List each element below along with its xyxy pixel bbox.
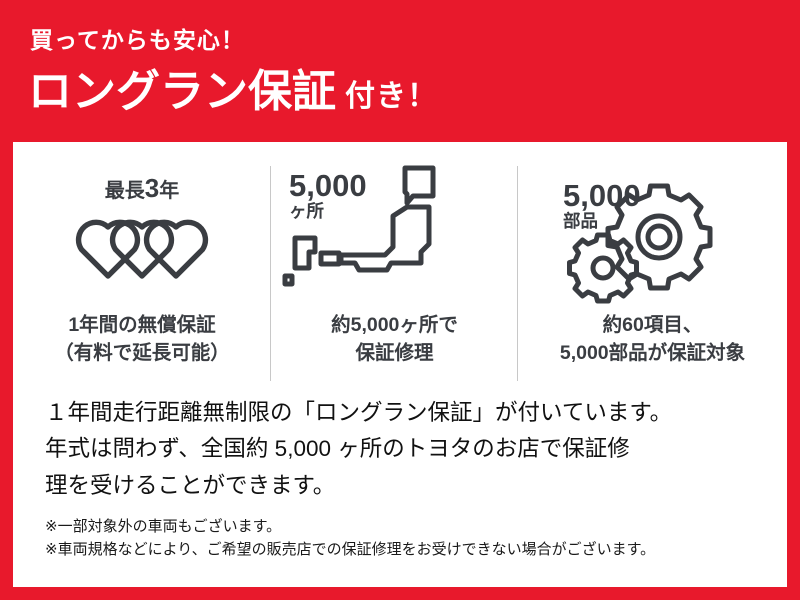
warranty-period-number: 3 bbox=[145, 173, 159, 203]
service-locations-unit: ヶ所 bbox=[289, 203, 324, 221]
header-headline: ロングラン保証 付き！ bbox=[28, 70, 438, 114]
header-tagline: 買ってからも安心！ bbox=[30, 29, 245, 52]
warranty-period-caption-line2: （有料で延長可能） bbox=[54, 342, 230, 364]
warranty-period-caption-line1: 1年間の無償保証 bbox=[68, 314, 215, 336]
service-locations-caption-line2: 保証修理 bbox=[355, 342, 433, 364]
feature-columns: 最長3年 1年間の無償保証 （有料で延長可能 bbox=[13, 156, 787, 388]
warranty-banner: 買ってからも安心！ ロングラン保証 付き！ 最長3年 bbox=[0, 0, 800, 600]
warranty-period-prefix: 最長 bbox=[105, 180, 145, 202]
content-panel: 最長3年 1年間の無償保証 （有料で延長可能 bbox=[13, 142, 787, 587]
covered-parts-unit: 部品 bbox=[563, 213, 598, 231]
covered-parts-icon-area: 5,000 部品 bbox=[518, 156, 787, 311]
feature-covered-parts: 5,000 部品 約60項目、 5,000部品が保証対象 bbox=[518, 156, 787, 388]
body-line-2: 年式は問わず、全国約 5,000 ヶ所のトヨタのお店で保証修 bbox=[45, 431, 775, 467]
disclaimer-notes: ※一部対象外の車両もございます。 ※車両規格などにより、ご希望の販売店での保証修… bbox=[45, 516, 775, 561]
body-line-3: 理を受けることができます。 bbox=[45, 468, 775, 504]
headline-main-text: ロングラン保証 bbox=[28, 70, 336, 114]
warranty-period-icon-area: 最長3年 bbox=[13, 156, 271, 311]
service-locations-icon-area: 5,000 ヶ所 bbox=[271, 156, 518, 311]
note-line-2: ※車両規格などにより、ご希望の販売店での保証修理をお受けできない場合がございます… bbox=[45, 539, 775, 562]
headline-sub-text: 付き！ bbox=[345, 82, 438, 114]
warranty-period-badge: 最長3年 bbox=[105, 175, 179, 201]
warranty-period-suffix: 年 bbox=[159, 180, 179, 202]
service-locations-caption-line1: 約5,000ヶ所で bbox=[331, 314, 458, 336]
body-line-1: １年間走行距離無制限の「ロングラン保証」が付いています。 bbox=[45, 395, 775, 431]
covered-parts-caption-line2: 5,000部品が保証対象 bbox=[560, 342, 745, 364]
service-locations-caption: 約5,000ヶ所で 保証修理 bbox=[331, 311, 458, 368]
service-locations-number: 5,000 bbox=[289, 170, 367, 201]
warranty-period-caption: 1年間の無償保証 （有料で延長可能） bbox=[54, 311, 230, 368]
feature-service-locations: 5,000 ヶ所 約5,000ヶ所で 保証修理 bbox=[271, 156, 518, 388]
banner-header: 買ってからも安心！ ロングラン保証 付き！ bbox=[0, 0, 800, 142]
covered-parts-caption: 約60項目、 5,000部品が保証対象 bbox=[560, 311, 745, 368]
covered-parts-number: 5,000 bbox=[563, 180, 641, 211]
three-hearts-icon bbox=[68, 206, 216, 289]
covered-parts-caption-line1: 約60項目、 bbox=[603, 314, 703, 336]
note-line-1: ※一部対象外の車両もございます。 bbox=[45, 516, 775, 539]
feature-warranty-period: 最長3年 1年間の無償保証 （有料で延長可能 bbox=[13, 156, 271, 388]
body-paragraph: １年間走行距離無制限の「ロングラン保証」が付いています。 年式は問わず、全国約 … bbox=[45, 395, 775, 504]
